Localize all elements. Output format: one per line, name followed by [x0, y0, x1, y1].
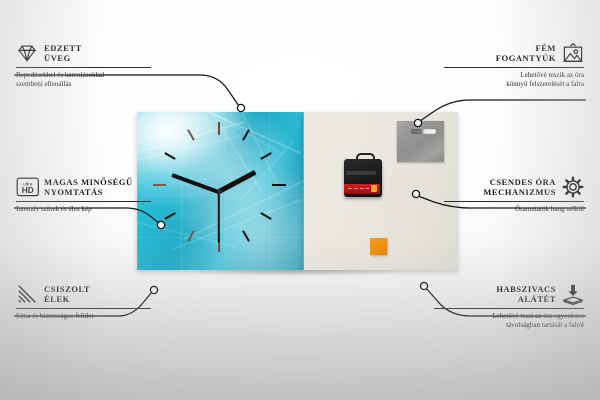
callout-header: ultra HD MAGAS MINŐSÉGŰ NYOMTATÁS — [16, 176, 156, 198]
clock-center-cap — [217, 189, 222, 194]
mechanism-band — [346, 171, 376, 175]
callout-high-quality-print: ultra HD MAGAS MINŐSÉGŰ NYOMTATÁS Intenz… — [16, 176, 156, 214]
callout-title: HABSZIVACS ALÁTÉT — [496, 284, 556, 305]
callout-divider — [444, 67, 584, 68]
clock-face — [137, 112, 303, 270]
picture-hanger-icon — [562, 42, 584, 64]
callout-metal-handles: FÉM FOGANTYÚK Lehetővé teszik az óra kön… — [444, 42, 584, 89]
callout-divider — [16, 308, 151, 309]
callout-description: Lehetővé teszik az óra — [444, 71, 584, 80]
svg-text:HD: HD — [22, 186, 34, 195]
bevel-lines-icon — [16, 283, 38, 305]
callout-header: FÉM FOGANTYÚK — [444, 42, 584, 64]
callout-title: CSISZOLT ÉLEK — [44, 284, 90, 305]
diamond-icon — [16, 42, 38, 64]
clock-tick — [218, 122, 220, 135]
callout-description: könnyű felszerelését a falra — [444, 80, 584, 89]
callout-header: CSENDES ÓRA MECHANIZMUS — [444, 176, 584, 198]
callout-header: HABSZIVACS ALÁTÉT — [434, 283, 584, 305]
metal-hanger-plate — [397, 121, 444, 162]
mechanism-loop — [356, 153, 375, 164]
connector-dot-foam-pad — [420, 282, 427, 289]
battery — [344, 184, 380, 194]
callout-title: CSENDES ÓRA MECHANIZMUS — [483, 177, 556, 198]
callout-description: Óramutatók hang nélkül — [444, 205, 584, 214]
callout-title: FÉM FOGANTYÚK — [496, 43, 556, 64]
callout-title: EDZETT ÜVEG — [44, 43, 82, 64]
callout-divider — [444, 201, 584, 202]
callout-description: Lehetővé teszi az óra egyenletes — [434, 312, 584, 321]
callout-divider — [434, 308, 584, 309]
ultra-hd-icon: ultra HD — [16, 176, 38, 198]
callout-description: Intenzív színek és éles kép — [16, 205, 156, 214]
clock-back-panel — [303, 112, 458, 270]
battery-tip — [371, 185, 377, 192]
connector-dot-tempered-glass — [237, 104, 244, 111]
quartz-mechanism — [344, 159, 382, 197]
foam-pad-icon — [562, 283, 584, 305]
callout-silent-mechanism: CSENDES ÓRA MECHANIZMUS Óramutatók hang … — [444, 176, 584, 214]
callout-foam-pad: HABSZIVACS ALÁTÉT Lehetővé teszi az óra … — [434, 283, 584, 330]
callout-divider — [16, 201, 151, 202]
gear-icon — [562, 176, 584, 198]
callout-title: MAGAS MINŐSÉGŰ NYOMTATÁS — [44, 177, 133, 198]
infographic-canvas: EDZETT ÜVEG Repedésekkel és karcolásokka… — [0, 0, 600, 400]
hanger-slot — [411, 129, 436, 134]
callout-tempered-glass: EDZETT ÜVEG Repedésekkel és karcolásokka… — [16, 42, 156, 89]
callout-polished-edges: CSISZOLT ÉLEK Sima és biztonságos felüle… — [16, 283, 156, 321]
callout-description: távolságban tartását a faltól — [434, 321, 584, 330]
foam-spacer-pad — [370, 238, 387, 255]
callout-description: Repedésekkel és karcolásokkal — [16, 71, 156, 80]
callout-description: Sima és biztonságos felület — [16, 312, 156, 321]
callout-divider — [16, 67, 151, 68]
clock-second-hand — [218, 191, 220, 243]
callout-header: EDZETT ÜVEG — [16, 42, 156, 64]
clock-tick — [272, 184, 286, 186]
callout-header: CSISZOLT ÉLEK — [16, 283, 156, 305]
product-image — [137, 112, 457, 270]
callout-description: szembeni ellenállás — [16, 80, 156, 89]
